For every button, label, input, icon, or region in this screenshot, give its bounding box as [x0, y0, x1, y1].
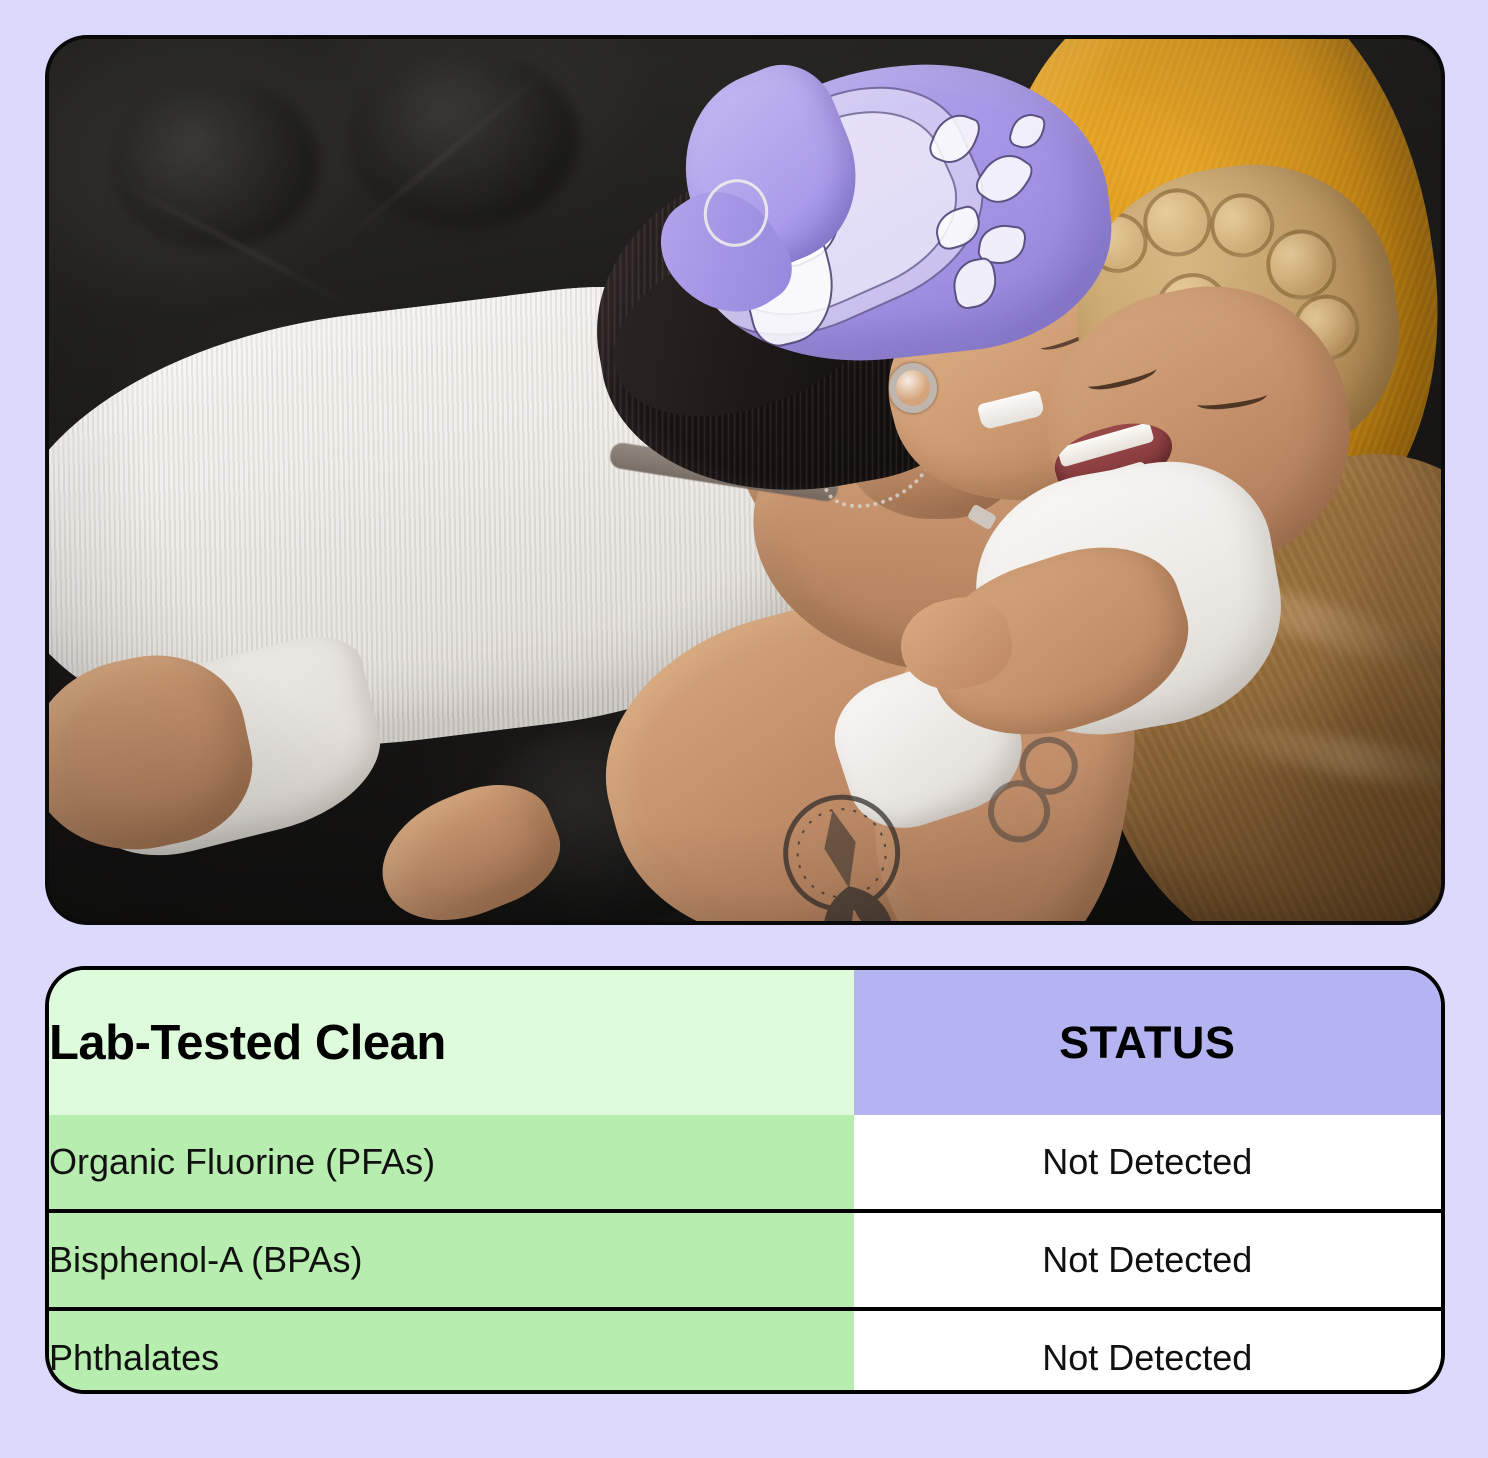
paisley-motif: [1007, 109, 1048, 152]
substance-name: Bisphenol-A (BPAs): [49, 1211, 854, 1309]
couch-tuft: [109, 79, 319, 249]
substance-status: Not Detected: [854, 1115, 1441, 1211]
substance-status: Not Detected: [854, 1309, 1441, 1394]
table-row: Bisphenol-A (BPAs) Not Detected: [49, 1211, 1441, 1309]
table-header-row: Lab-Tested Clean STATUS: [49, 970, 1441, 1115]
hair-curl: [1206, 189, 1278, 261]
paisley-motif: [949, 256, 1001, 311]
substance-name: Phthalates: [49, 1309, 854, 1394]
photo-image: [49, 39, 1441, 921]
column-header-status: STATUS: [854, 970, 1441, 1115]
hoop-earring-icon: [889, 363, 937, 413]
column-header-lab-tested-clean: Lab-Tested Clean: [49, 970, 854, 1115]
hair-curl: [1262, 225, 1341, 304]
substance-status: Not Detected: [854, 1211, 1441, 1309]
lifestyle-photo-card: [45, 35, 1445, 925]
lab-results-table-card: Lab-Tested Clean STATUS Organic Fluorine…: [45, 966, 1445, 1394]
lab-results-table: Lab-Tested Clean STATUS Organic Fluorine…: [49, 970, 1441, 1394]
hair-curl: [1139, 184, 1216, 261]
table-row: Organic Fluorine (PFAs) Not Detected: [49, 1115, 1441, 1211]
table-row: Phthalates Not Detected: [49, 1309, 1441, 1394]
product-infographic-page: Lab-Tested Clean STATUS Organic Fluorine…: [0, 0, 1488, 1458]
substance-name: Organic Fluorine (PFAs): [49, 1115, 854, 1211]
